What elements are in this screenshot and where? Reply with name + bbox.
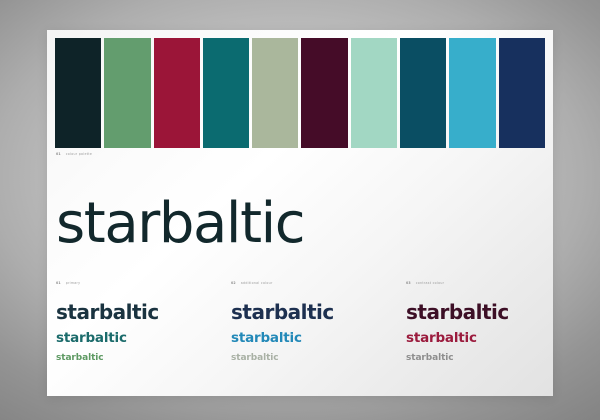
logo-variant-medium: starbaltic bbox=[231, 330, 361, 346]
column-caption-number: 02 bbox=[231, 280, 236, 287]
palette-caption: 01 colour palette bbox=[56, 151, 92, 158]
palette-caption-text: colour palette bbox=[66, 151, 92, 158]
primary-wordmark: starbaltic bbox=[56, 193, 304, 255]
presentation-panel: 01 colour palette starbaltic 01primaryst… bbox=[47, 30, 553, 396]
column-caption-text: additional colour bbox=[241, 280, 273, 287]
logo-variant-columns: 01primarystarbalticstarbalticstarbaltic0… bbox=[56, 280, 536, 364]
column-caption-number: 03 bbox=[406, 280, 411, 287]
colour-swatch-navy[interactable] bbox=[499, 38, 545, 148]
logo-variant-column-3: 03contrast colourstarbalticstarbalticsta… bbox=[406, 280, 536, 364]
brand-board: 01 colour palette starbaltic 01primaryst… bbox=[0, 0, 600, 420]
logo-variant-medium: starbaltic bbox=[406, 330, 536, 346]
colour-swatch-khaki-sage[interactable] bbox=[252, 38, 298, 148]
logo-variant-small: starbaltic bbox=[231, 353, 361, 364]
palette-caption-number: 01 bbox=[56, 151, 61, 158]
logo-variant-large: starbaltic bbox=[231, 301, 361, 324]
colour-swatch-bright-cyan[interactable] bbox=[449, 38, 495, 148]
colour-swatch-sage-green[interactable] bbox=[104, 38, 150, 148]
logo-variant-large: starbaltic bbox=[56, 301, 186, 324]
colour-swatch-mint[interactable] bbox=[351, 38, 397, 148]
colour-swatch-deep-petrol-black[interactable] bbox=[55, 38, 101, 148]
logo-variant-column-2: 02additional colourstarbalticstarbaltics… bbox=[231, 280, 361, 364]
colour-swatch-dark-plum[interactable] bbox=[301, 38, 347, 148]
logo-variant-medium: starbaltic bbox=[56, 330, 186, 346]
logo-variant-large: starbaltic bbox=[406, 301, 536, 324]
colour-palette-strip bbox=[55, 38, 545, 148]
column-caption: 01primary bbox=[56, 280, 186, 287]
logo-variant-small: starbaltic bbox=[406, 353, 536, 364]
column-caption-number: 01 bbox=[56, 280, 61, 287]
logo-variant-column-1: 01primarystarbalticstarbalticstarbaltic bbox=[56, 280, 186, 364]
column-caption-text: contrast colour bbox=[416, 280, 445, 287]
logo-variant-small: starbaltic bbox=[56, 353, 186, 364]
column-caption: 02additional colour bbox=[231, 280, 361, 287]
colour-swatch-petrol-blue[interactable] bbox=[400, 38, 446, 148]
column-caption: 03contrast colour bbox=[406, 280, 536, 287]
colour-swatch-teal[interactable] bbox=[203, 38, 249, 148]
colour-swatch-crimson[interactable] bbox=[154, 38, 200, 148]
column-caption-text: primary bbox=[66, 280, 81, 287]
